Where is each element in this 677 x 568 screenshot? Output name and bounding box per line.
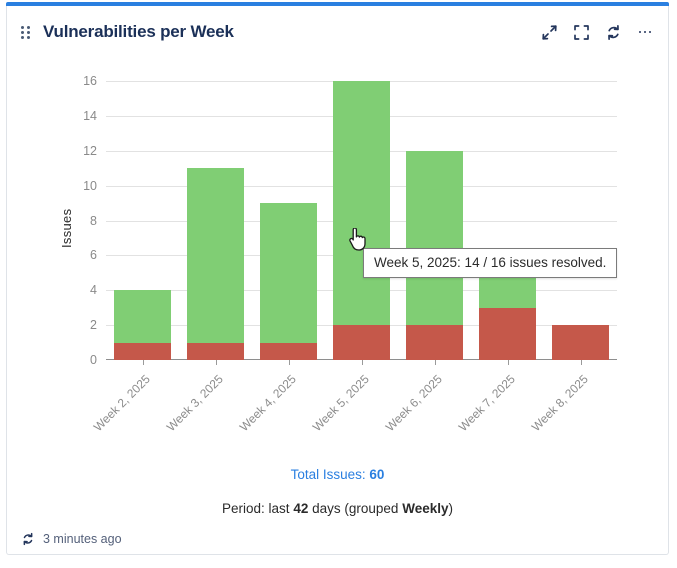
last-updated-refresh[interactable]: 3 minutes ago — [21, 532, 122, 546]
chart-bar[interactable] — [187, 81, 244, 360]
chart-region: Issues 0246810121416 Week 2, 2025Week 3,… — [7, 58, 668, 458]
y-axis-tick: 6 — [90, 248, 97, 262]
x-axis-label: Week 2, 2025 — [80, 372, 152, 444]
chart-bar[interactable] — [479, 81, 536, 360]
x-axis-label: Week 4, 2025 — [226, 372, 298, 444]
y-axis-tick: 2 — [90, 318, 97, 332]
chart-plot-area[interactable]: 0246810121416 — [106, 81, 617, 360]
x-axis-tick-mark — [216, 360, 217, 365]
chart-bar[interactable] — [406, 81, 463, 360]
x-axis-tick-mark — [362, 360, 363, 365]
bar-segment-open[interactable] — [187, 343, 244, 360]
x-axis-label: Week 3, 2025 — [153, 372, 225, 444]
more-options-icon[interactable] — [636, 23, 654, 41]
chart-bar[interactable] — [552, 81, 609, 360]
x-axis-tick-mark — [508, 360, 509, 365]
bar-segment-resolved[interactable] — [260, 203, 317, 343]
bar-segment-open[interactable] — [406, 325, 463, 360]
y-axis-tick: 12 — [83, 144, 97, 158]
page-title: Vulnerabilities per Week — [43, 22, 234, 42]
x-axis-label: Week 7, 2025 — [445, 372, 517, 444]
y-axis-tick: 14 — [83, 109, 97, 123]
bar-segment-resolved[interactable] — [406, 151, 463, 325]
last-updated-text: 3 minutes ago — [43, 532, 122, 546]
bar-segment-resolved[interactable] — [114, 290, 171, 342]
total-issues-label: Total Issues: — [291, 467, 366, 482]
period-prefix: Period: last — [222, 501, 290, 516]
vulnerabilities-per-week-widget: Vulnerabilities per Week — [6, 6, 669, 555]
total-issues-value: 60 — [369, 467, 384, 482]
drag-dots-icon[interactable] — [21, 24, 33, 40]
refresh-icon[interactable] — [604, 23, 622, 41]
y-axis-title: Issues — [59, 209, 74, 248]
x-axis-tick-mark — [143, 360, 144, 365]
bar-segment-resolved[interactable] — [187, 168, 244, 342]
x-axis-tick-mark — [435, 360, 436, 365]
period-summary: Period: last 42 days (grouped Weekly) — [7, 501, 668, 516]
bar-segment-open[interactable] — [114, 343, 171, 360]
header-actions — [540, 23, 654, 41]
period-suffix: ) — [448, 501, 453, 516]
x-axis-label: Week 5, 2025 — [299, 372, 371, 444]
y-axis-tick: 8 — [90, 214, 97, 228]
bar-segment-open[interactable] — [333, 325, 390, 360]
bar-segment-resolved[interactable] — [333, 81, 390, 325]
bar-segment-open[interactable] — [260, 343, 317, 360]
widget-header: Vulnerabilities per Week — [7, 6, 668, 58]
collapse-icon[interactable] — [540, 23, 558, 41]
total-issues-link[interactable]: Total Issues: 60 — [7, 467, 668, 482]
y-axis-tick: 4 — [90, 283, 97, 297]
x-axis-tick-mark — [289, 360, 290, 365]
y-axis-tick: 16 — [83, 74, 97, 88]
chart-bar[interactable] — [114, 81, 171, 360]
chart-tooltip: Week 5, 2025: 14 / 16 issues resolved. — [363, 248, 617, 278]
period-grouping: Weekly — [402, 501, 448, 516]
x-axis-label: Week 8, 2025 — [518, 372, 590, 444]
period-middle: days (grouped — [312, 501, 398, 516]
x-axis-label: Week 6, 2025 — [372, 372, 444, 444]
bar-segment-open[interactable] — [479, 308, 536, 360]
bar-segment-open[interactable] — [552, 325, 609, 360]
y-axis-tick: 10 — [83, 179, 97, 193]
fullscreen-icon[interactable] — [572, 23, 590, 41]
chart-bar[interactable] — [260, 81, 317, 360]
chart-bar[interactable] — [333, 81, 390, 360]
period-days: 42 — [293, 501, 308, 516]
x-axis-tick-mark — [581, 360, 582, 365]
y-axis-tick: 0 — [90, 353, 97, 367]
refresh-icon[interactable] — [21, 532, 35, 546]
